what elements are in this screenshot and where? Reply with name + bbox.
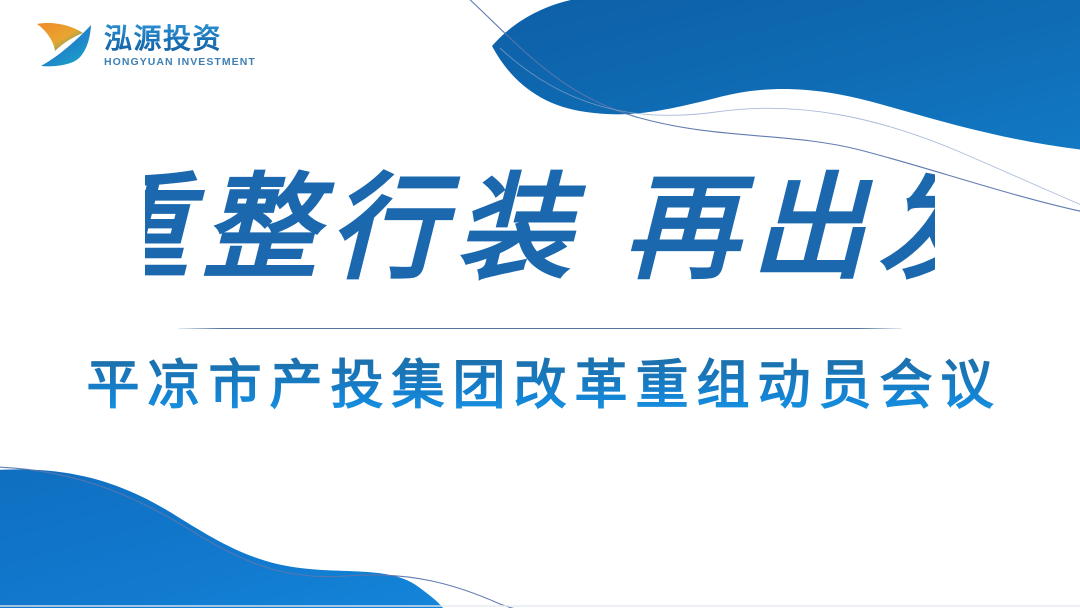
brand-logo-text: 泓源投资 HONGYUAN INVESTMENT	[104, 22, 256, 68]
presentation-slide: 泓源投资 HONGYUAN INVESTMENT 重整行装 再出发 平凉市产投集…	[0, 0, 1080, 608]
brand-name-en: HONGYUAN INVESTMENT	[104, 56, 256, 68]
event-subtitle: 平凉市产投集团改革重组动员会议	[79, 355, 1002, 417]
headline-divider	[178, 328, 902, 329]
brand-logo[interactable]: 泓源投资 HONGYUAN INVESTMENT	[33, 16, 256, 74]
calligraphy-headline: 重整行装 再出发	[145, 158, 935, 308]
hongyuan-swoosh-icon	[33, 16, 95, 74]
slide-center-content: 重整行装 再出发 平凉市产投集团改革重组动员会议	[0, 0, 1080, 608]
calligraphy-headline-text: 重整行装 再出发	[145, 166, 935, 293]
brand-name-cn: 泓源投资	[104, 24, 256, 54]
